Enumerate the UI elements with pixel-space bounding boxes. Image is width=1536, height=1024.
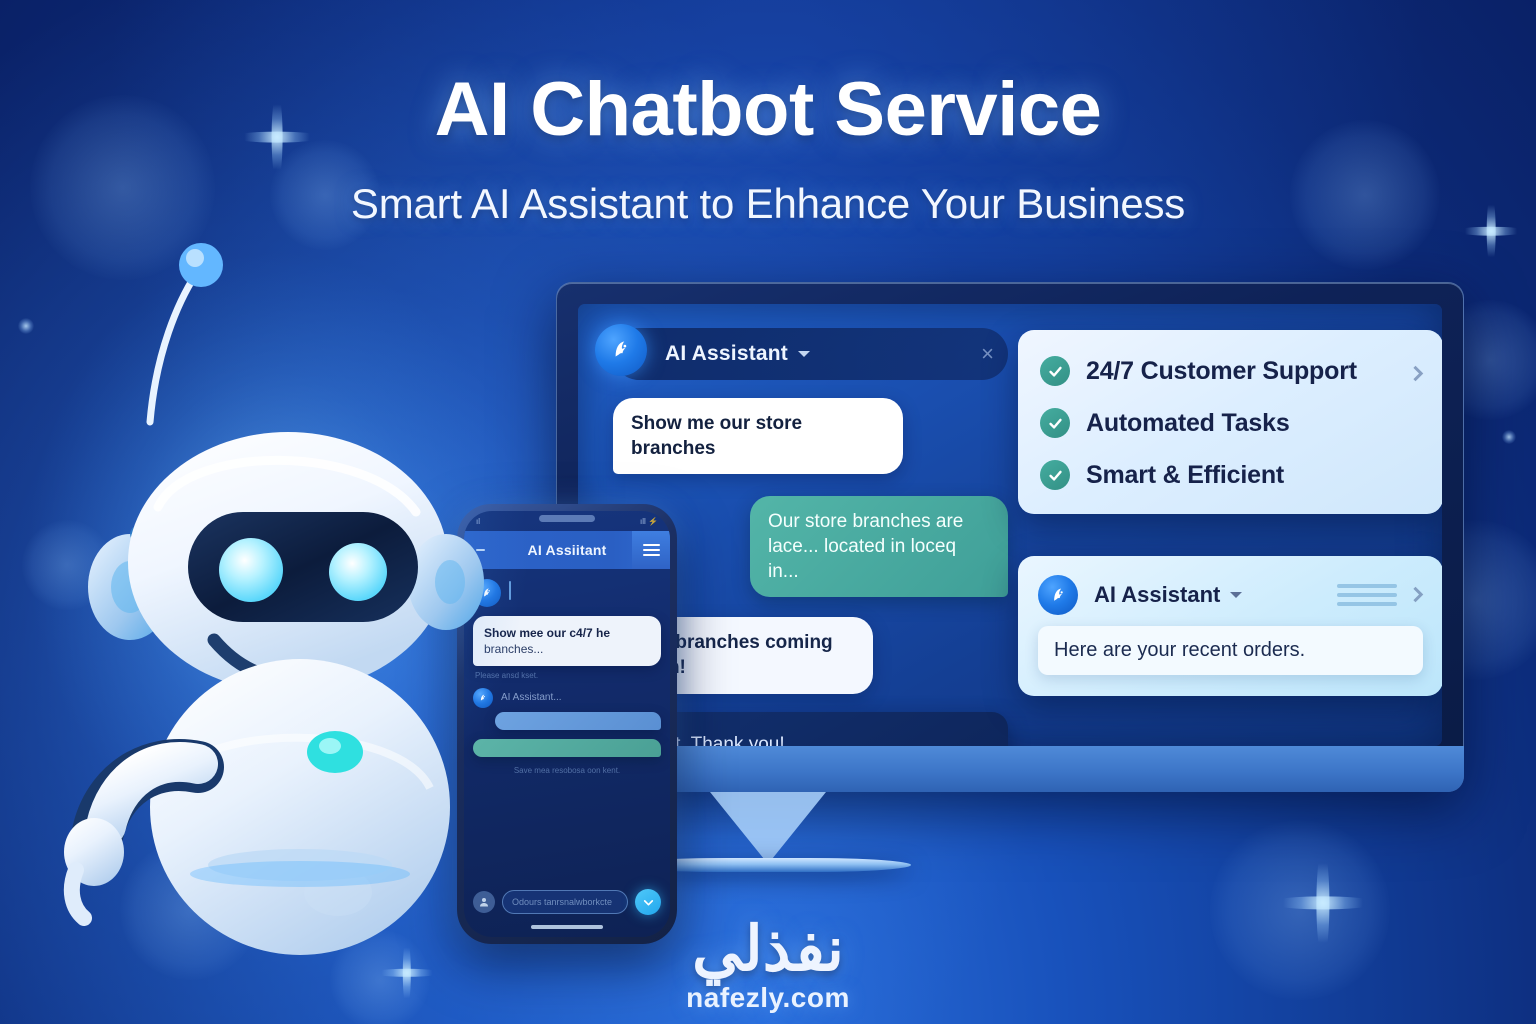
order-card-message: Here are your recent orders. — [1038, 626, 1423, 675]
chat-header[interactable]: AI Assistant × — [613, 328, 1008, 380]
page-title: AI Chatbot Service — [0, 66, 1536, 153]
robot-mascot — [38, 222, 508, 882]
feature-label: 24/7 Customer Support — [1086, 357, 1357, 386]
chat-title: AI Assistant — [665, 342, 788, 366]
assistant-avatar — [595, 324, 647, 376]
logo-domain-text: nafezly.com — [0, 982, 1536, 1014]
check-icon — [1040, 356, 1070, 386]
send-icon[interactable] — [635, 889, 661, 915]
assistant-avatar — [1038, 575, 1078, 615]
logo-arabic-text: نفذلي — [0, 917, 1536, 982]
chat-message-user: Show me our store branches — [613, 398, 903, 474]
glow-dot — [1502, 430, 1516, 444]
monitor-screen: AI Assistant × Show me our store branche… — [578, 304, 1442, 746]
feature-item[interactable]: 24/7 Customer Support — [1040, 356, 1421, 386]
check-icon — [1040, 408, 1070, 438]
phone-title: AI Assiitant — [528, 542, 607, 558]
monitor-stand — [710, 792, 826, 864]
page-subtitle: Smart AI Assistant to Ehhance Your Busin… — [0, 180, 1536, 228]
check-icon — [1040, 460, 1070, 490]
hero-banner: AI Chatbot Service Smart AI Assistant to… — [0, 0, 1536, 1024]
feature-label: Automated Tasks — [1086, 409, 1290, 438]
recent-orders-card: AI Assistant Here are your recent orders… — [1018, 556, 1442, 696]
feature-item[interactable]: Automated Tasks — [1040, 408, 1421, 438]
close-icon[interactable]: × — [981, 343, 994, 365]
chat-footer-line-1: Got it. Thank you! — [635, 732, 986, 746]
order-card-title: AI Assistant — [1094, 582, 1220, 608]
order-card-header[interactable]: AI Assistant — [1038, 574, 1423, 616]
feature-list-card: 24/7 Customer Support Automated Tasks Sm… — [1018, 330, 1442, 514]
user-avatar-icon — [473, 891, 495, 913]
glow-dot — [18, 318, 34, 334]
phone-assistant-name: AI Assistant... — [501, 688, 562, 703]
phone-message-input[interactable]: Odours tanrsnalwborkcte — [502, 890, 628, 914]
chevron-right-icon[interactable] — [1408, 587, 1424, 603]
chevron-down-icon[interactable] — [1230, 592, 1242, 598]
chevron-down-icon[interactable] — [798, 351, 810, 357]
feature-label: Smart & Efficient — [1086, 461, 1284, 490]
desktop-monitor: AI Assistant × Show me our store branche… — [556, 282, 1464, 792]
chat-message-bot: Our store branches are lace... located i… — [750, 496, 1008, 597]
phone-composer: Odours tanrsnalwborkcte — [464, 889, 670, 915]
phone-notch — [539, 515, 595, 522]
monitor-chin — [556, 746, 1464, 792]
phone-loading-meta — [509, 579, 661, 600]
phone-message-bot — [495, 712, 661, 730]
brand-logo: نفذلي nafezly.com — [0, 917, 1536, 1014]
feature-item[interactable]: Smart & Efficient — [1040, 460, 1421, 490]
battery-icon: ıll ⚡ — [640, 517, 658, 526]
menu-lines-icon[interactable] — [1337, 584, 1397, 606]
hamburger-icon[interactable] — [632, 531, 670, 569]
